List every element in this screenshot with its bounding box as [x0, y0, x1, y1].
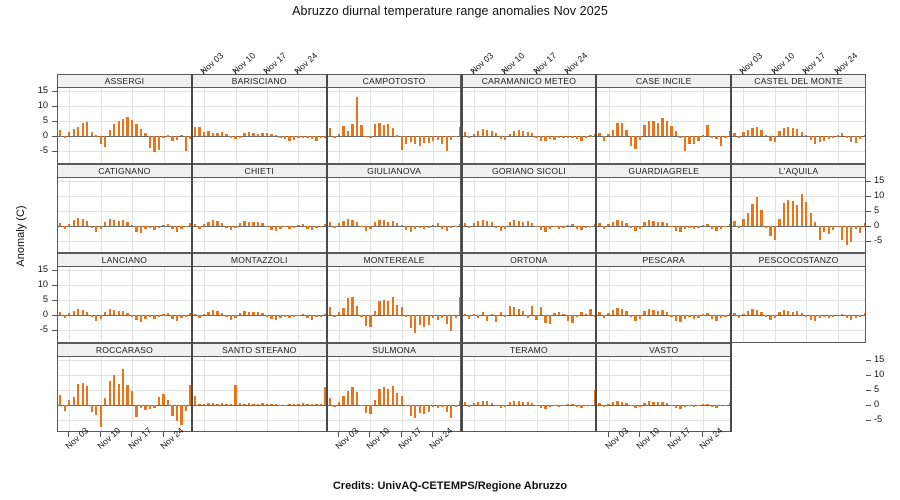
bar: [589, 135, 591, 136]
gridline-horizontal: [58, 241, 191, 242]
bar: [100, 315, 102, 319]
bar: [252, 404, 254, 405]
gridline-horizontal: [463, 121, 596, 122]
bar: [760, 312, 762, 315]
bar: [455, 315, 457, 318]
gridline-horizontal: [597, 270, 730, 271]
gridline-horizontal: [597, 375, 730, 376]
x-axis-tick-label: Nov 24: [832, 50, 859, 76]
gridline-horizontal: [58, 285, 191, 286]
bar: [585, 226, 587, 228]
bar: [500, 312, 502, 315]
y-axis-tick-label: 0: [0, 130, 48, 140]
bar: [450, 136, 452, 140]
bar: [783, 203, 785, 225]
bar: [135, 405, 137, 418]
bar: [221, 403, 223, 405]
panel-pescocostanzo: PESCOCOSTANZO: [731, 253, 866, 343]
bar: [738, 315, 740, 317]
bar: [167, 135, 169, 136]
bar: [518, 221, 520, 226]
bar: [113, 124, 115, 136]
x-axis-tick: [432, 432, 433, 437]
bar: [230, 136, 232, 138]
x-axis-tick-label: Nov 03: [738, 50, 765, 76]
bar: [837, 315, 839, 316]
bar: [77, 218, 79, 226]
bar: [814, 136, 816, 144]
bar: [778, 219, 780, 226]
bar: [783, 128, 785, 136]
y-axis-tick-label: 0: [874, 220, 879, 230]
bar: [657, 402, 659, 404]
bar: [243, 221, 245, 226]
bar: [621, 402, 623, 405]
bar: [801, 313, 803, 315]
bar: [365, 226, 367, 231]
panel-strip-label: CATIGNANO: [57, 164, 192, 178]
bar: [715, 226, 717, 231]
bar: [243, 404, 245, 405]
y-axis-tick-label: -5: [0, 145, 48, 155]
x-axis-tick-label: Nov 10: [499, 50, 526, 76]
bar: [675, 226, 677, 231]
y-axis-tick: [52, 270, 57, 271]
gridline-horizontal: [597, 211, 730, 212]
panel-catignano: CATIGNANO: [57, 164, 192, 254]
bar: [333, 226, 335, 228]
x-axis-tick-label: Nov 17: [261, 50, 288, 76]
bar: [167, 224, 169, 226]
gridline-horizontal: [463, 181, 596, 182]
bar: [513, 220, 515, 226]
panel-separator-vertical: [191, 74, 193, 432]
bar: [162, 136, 164, 138]
bar: [441, 226, 443, 229]
bar: [688, 136, 690, 143]
bar: [544, 315, 546, 323]
bar: [774, 136, 776, 142]
bar: [634, 136, 636, 149]
bar: [531, 223, 533, 226]
bar: [234, 315, 236, 317]
bar: [122, 369, 124, 405]
bar: [252, 222, 254, 225]
bar: [383, 125, 385, 137]
bar: [275, 404, 277, 405]
bar: [284, 315, 286, 316]
bar: [365, 136, 367, 137]
gridline-horizontal: [732, 196, 865, 197]
gridline-horizontal: [732, 121, 865, 122]
bar: [351, 220, 353, 226]
bar: [576, 226, 578, 229]
panel-roccaraso: ROCCARASO: [57, 343, 192, 433]
bar: [468, 315, 470, 319]
bar: [513, 307, 515, 315]
bar: [378, 389, 380, 405]
chart-root: Abruzzo diurnal temperature range anomal…: [0, 0, 900, 500]
bar: [607, 404, 609, 405]
bar: [801, 194, 803, 225]
gridline-horizontal: [463, 375, 596, 376]
panel-plot-area: [596, 178, 731, 254]
y-axis-tick-label: -5: [874, 414, 882, 424]
bar: [639, 315, 641, 319]
bar: [810, 213, 812, 226]
bar: [410, 136, 412, 142]
bar: [68, 400, 70, 405]
bar: [64, 226, 66, 229]
bar: [630, 226, 632, 228]
y-axis-tick-label: 5: [0, 115, 48, 125]
panel-teramo: TERAMO: [462, 343, 597, 433]
bar: [540, 405, 542, 408]
bar: [419, 315, 421, 325]
gridline-horizontal: [58, 300, 191, 301]
gridline-horizontal: [597, 300, 730, 301]
bar: [396, 393, 398, 405]
bar: [720, 315, 722, 318]
bar: [518, 309, 520, 316]
bar: [724, 315, 726, 316]
bar: [814, 315, 816, 321]
bar: [59, 312, 61, 315]
bar: [580, 312, 582, 315]
bar: [315, 136, 317, 140]
bar: [437, 136, 439, 140]
panel-separator-vertical: [595, 74, 597, 432]
panel-plot-area: [462, 357, 597, 433]
bar: [176, 226, 178, 232]
bar: [805, 135, 807, 136]
bar: [666, 403, 668, 405]
bar: [441, 315, 443, 317]
bar: [257, 134, 259, 137]
bar: [715, 315, 717, 321]
gridline-horizontal: [463, 91, 596, 92]
bar: [275, 135, 277, 136]
bar: [374, 400, 376, 405]
bar: [500, 226, 502, 231]
bar: [792, 201, 794, 225]
bar: [252, 312, 254, 315]
bar: [702, 404, 704, 405]
bar: [212, 403, 214, 405]
gridline-horizontal: [732, 330, 865, 331]
panel-plot-area: [596, 267, 731, 343]
bar: [171, 226, 173, 230]
panel-montereale: MONTEREALE: [327, 253, 462, 343]
gridline-horizontal: [58, 211, 191, 212]
bar: [643, 222, 645, 225]
bar: [338, 312, 340, 315]
bar: [109, 130, 111, 136]
bar: [720, 226, 722, 229]
bar: [531, 306, 533, 315]
bar: [580, 226, 582, 231]
panel-strip-label: MONTAZZOLI: [192, 253, 327, 267]
bar: [216, 311, 218, 315]
gridline-horizontal: [58, 151, 191, 152]
bar: [68, 224, 70, 226]
bar: [91, 226, 93, 228]
bar: [648, 401, 650, 405]
bar: [77, 384, 79, 405]
bar: [86, 386, 88, 405]
panel-strip-label: BARISCIANO: [192, 74, 327, 88]
bar: [751, 128, 753, 136]
bar: [109, 219, 111, 226]
gridline-horizontal: [193, 181, 326, 182]
bar: [473, 134, 475, 136]
y-axis-label: Anomaly (C): [15, 176, 27, 296]
bar: [149, 226, 151, 228]
bar: [100, 405, 102, 427]
bar: [297, 315, 299, 316]
gridline-horizontal: [328, 151, 461, 152]
bar: [306, 226, 308, 229]
bar: [702, 135, 704, 136]
bar: [792, 312, 794, 316]
bar: [365, 315, 367, 325]
panel-campotosto: CAMPOTOSTO: [327, 74, 462, 164]
bar: [351, 297, 353, 315]
bar: [621, 309, 623, 315]
bar: [706, 404, 708, 405]
bar: [747, 130, 749, 136]
bar: [203, 132, 205, 136]
bar: [679, 226, 681, 232]
gridline-horizontal: [328, 181, 461, 182]
x-axis-tick-label: Nov 24: [293, 50, 320, 76]
bar: [207, 403, 209, 405]
bar: [284, 136, 286, 139]
bar: [509, 402, 511, 404]
bar: [171, 405, 173, 416]
y-axis-tick: [866, 196, 871, 197]
panel-barisciano: BARISCIANO: [192, 74, 327, 164]
bar: [747, 213, 749, 226]
bar: [153, 405, 155, 408]
bar: [118, 384, 120, 405]
bar: [715, 405, 717, 408]
gridline-horizontal: [193, 241, 326, 242]
bar: [598, 403, 600, 405]
bar: [684, 315, 686, 319]
bar: [747, 311, 749, 315]
panel-chieti: CHIETI: [192, 164, 327, 254]
gridline-horizontal: [193, 91, 326, 92]
bar: [275, 315, 277, 320]
bar: [531, 133, 533, 137]
bar: [135, 124, 137, 137]
gridline-horizontal: [597, 151, 730, 152]
x-axis-tick: [608, 432, 609, 437]
bar: [482, 220, 484, 226]
bar: [153, 226, 155, 230]
bar: [203, 314, 205, 316]
bar: [261, 133, 263, 136]
y-axis-tick: [52, 121, 57, 122]
bar: [248, 403, 250, 405]
bar: [486, 130, 488, 136]
bar: [95, 135, 97, 136]
bar: [810, 136, 812, 140]
bar: [118, 221, 120, 226]
bar: [482, 312, 484, 315]
gridline-horizontal: [328, 121, 461, 122]
bar: [500, 136, 502, 139]
bar: [185, 405, 187, 411]
bar: [225, 226, 227, 228]
bar: [73, 397, 75, 405]
x-axis-tick: [68, 432, 69, 437]
bar: [738, 226, 740, 228]
bar: [64, 405, 66, 412]
bar: [360, 405, 362, 406]
bar: [567, 136, 569, 137]
panel-goriano-sicoli: GORIANO SICOLI: [462, 164, 597, 254]
bar: [64, 315, 66, 318]
bar: [473, 223, 475, 225]
bar: [787, 311, 789, 316]
bar: [302, 403, 304, 405]
bar: [706, 313, 708, 315]
bar: [100, 136, 102, 144]
bar: [675, 405, 677, 408]
bar: [837, 226, 839, 228]
bar: [711, 136, 713, 137]
bar: [212, 310, 214, 315]
bar: [612, 222, 614, 226]
bar: [715, 136, 717, 139]
bar: [266, 404, 268, 405]
bar: [68, 313, 70, 315]
bar: [491, 222, 493, 225]
bar: [239, 223, 241, 226]
panel-plot-area: [192, 178, 327, 254]
bar: [419, 405, 421, 413]
bar: [693, 315, 695, 319]
bar: [504, 405, 506, 407]
bar: [410, 226, 412, 232]
bar: [549, 315, 551, 324]
bar: [369, 315, 371, 327]
bar: [347, 219, 349, 225]
bar: [198, 127, 200, 136]
y-axis-tick-label: 15: [874, 175, 884, 185]
panel-strip-label: GIULIANOVA: [327, 164, 462, 178]
y-axis-tick-label: 10: [874, 190, 884, 200]
x-axis-tick-label: Nov 03: [198, 50, 225, 76]
panel-plot-area: [192, 357, 327, 433]
bar: [706, 224, 708, 226]
bar: [167, 313, 169, 315]
bar: [634, 315, 636, 321]
bar: [625, 403, 627, 405]
bar: [95, 315, 97, 321]
bar: [720, 405, 722, 407]
bar: [670, 126, 672, 136]
bar: [140, 315, 142, 322]
bar: [82, 310, 84, 315]
bar: [261, 403, 263, 405]
x-axis-tick: [401, 432, 402, 437]
gridline-horizontal: [58, 181, 191, 182]
bar: [679, 405, 681, 409]
panel-caramanico-meteo: CARAMANICO METEO: [462, 74, 597, 164]
bar: [576, 315, 578, 317]
bar: [68, 132, 70, 137]
bar: [248, 132, 250, 137]
y-axis-tick: [866, 360, 871, 361]
bar: [122, 119, 124, 137]
bar: [522, 131, 524, 136]
bar: [553, 313, 555, 316]
bar: [513, 401, 515, 405]
y-axis-tick: [866, 226, 871, 227]
bar: [473, 403, 475, 405]
bar: [864, 135, 866, 137]
bar: [684, 405, 686, 407]
bar: [666, 312, 668, 315]
gridline-horizontal: [732, 151, 865, 152]
bar: [315, 226, 317, 228]
bar: [535, 315, 537, 320]
bar: [95, 405, 97, 416]
bar: [733, 313, 735, 316]
bar: [693, 405, 695, 407]
bar: [648, 121, 650, 136]
bar: [311, 315, 313, 319]
gridline-horizontal: [328, 285, 461, 286]
gridline-horizontal: [597, 181, 730, 182]
x-axis-tick-label: Nov 17: [531, 50, 558, 76]
bar: [855, 136, 857, 143]
bar: [540, 226, 542, 230]
bar: [765, 226, 767, 228]
bar: [338, 402, 340, 405]
x-axis-tick: [639, 432, 640, 437]
bar: [198, 226, 200, 229]
bar: [585, 405, 587, 407]
bar: [823, 136, 825, 141]
bar: [567, 225, 569, 226]
bar: [693, 226, 695, 230]
bar: [819, 136, 821, 142]
bar: [491, 131, 493, 136]
bar: [603, 136, 605, 141]
bar: [270, 315, 272, 319]
gridline-horizontal: [193, 211, 326, 212]
bar: [104, 136, 106, 146]
bar: [257, 404, 259, 405]
bar: [126, 313, 128, 316]
y-axis-tick-label: 15: [0, 85, 48, 95]
bar: [603, 226, 605, 229]
bar: [652, 310, 654, 316]
y-axis-tick: [866, 405, 871, 406]
bar: [288, 404, 290, 405]
bar: [387, 124, 389, 136]
gridline-horizontal: [193, 330, 326, 331]
bar: [742, 219, 744, 226]
bar: [311, 404, 313, 405]
bar: [702, 225, 704, 226]
x-axis-tick-label: Nov 10: [230, 50, 257, 76]
gridline-horizontal: [193, 285, 326, 286]
